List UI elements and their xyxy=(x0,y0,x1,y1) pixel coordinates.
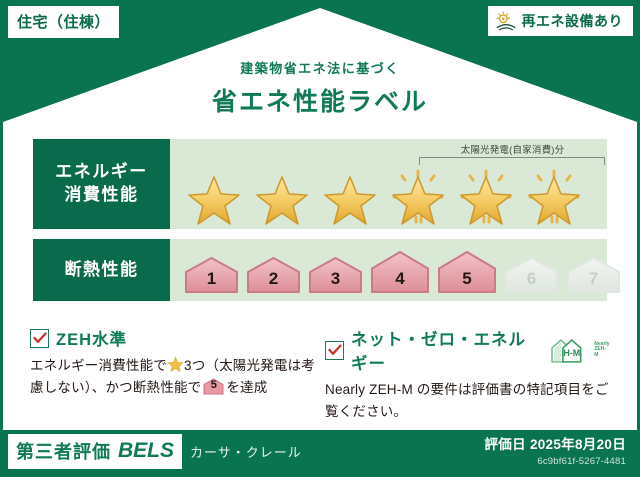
zeh-body-post: を達成 xyxy=(226,380,267,395)
energy-star-1 xyxy=(184,167,244,225)
energy-star-2 xyxy=(252,167,312,225)
energy-performance-row: エネルギー 消費性能 太陽光発電(自家消費)分 xyxy=(33,139,607,229)
star-solar-icon xyxy=(456,167,516,225)
insulation-badge-number: 2 xyxy=(246,269,301,289)
bels-jp-label: 第三者評価 xyxy=(16,438,111,464)
check-icon xyxy=(33,332,47,344)
net-zero-energy-statement: ネット・ゼロ・エネルギー H-M Nearly ZEH-M Nearly ZEH… xyxy=(325,326,610,423)
evaluation-date-label: 評価日 xyxy=(484,437,525,452)
bels-footer: 第三者評価 BELS カーサ・クレール xyxy=(8,434,302,469)
solar-range-bracket xyxy=(419,157,605,165)
evaluation-id: 6c9bf61f-5267-4481 xyxy=(484,456,626,467)
energy-label-line2: 消費性能 xyxy=(65,184,139,207)
renewable-badge-label: 再エネ設備あり xyxy=(522,11,624,31)
label-title-block: 建築物省エネ法に基づく 省エネ性能ラベル xyxy=(0,58,640,118)
insulation-grade-badges: 1234567 xyxy=(170,239,607,301)
renewable-energy-badge: 再エネ設備あり xyxy=(488,6,634,36)
solar-sun-icon xyxy=(495,10,517,32)
insulation-performance-row: 断熱性能 1234567 xyxy=(33,239,607,301)
check-icon xyxy=(328,344,342,356)
insulation-badge-5: 5 xyxy=(437,250,497,294)
insulation-badge-2: 2 xyxy=(246,256,301,294)
inline-star-icon xyxy=(167,356,184,373)
insulation-badge-3: 3 xyxy=(308,256,363,294)
energy-star-4 xyxy=(388,167,448,225)
insulation-label-full: 断熱性能 xyxy=(65,259,139,282)
zeh-m-logo-sub2: ZEH-M xyxy=(594,347,610,358)
zeh-statement-body: エネルギー消費性能で3つ（太陽光発電は考慮しない）、かつ断熱性能で5を達成 xyxy=(30,355,320,399)
star-filled-icon xyxy=(252,167,312,225)
net-zero-statement-body: Nearly ZEH-M の要件は評価書の特記項目をご覧ください。 xyxy=(325,379,610,423)
evaluation-info: 評価日 2025年8月20日 6c9bf61f-5267-4481 xyxy=(484,433,626,467)
star-filled-icon xyxy=(184,167,244,225)
insulation-badge-4: 4 xyxy=(370,250,430,294)
label-subtitle: 建築物省エネ法に基づく xyxy=(0,58,640,77)
zeh-checkbox xyxy=(30,329,49,348)
zeh-statement-header: ZEH水準 xyxy=(30,326,320,350)
insulation-performance-label: 断熱性能 xyxy=(33,239,170,301)
star-filled-icon xyxy=(320,167,380,225)
insulation-badge-number: 5 xyxy=(437,269,497,289)
insulation-badge-number: 1 xyxy=(184,269,239,289)
insulation-badge-6: 6 xyxy=(504,256,559,294)
zeh-statement-title: ZEH水準 xyxy=(56,326,127,350)
bels-badge: 第三者評価 BELS xyxy=(8,434,182,469)
label-main-title: 省エネ性能ラベル xyxy=(0,82,640,118)
net-zero-checkbox xyxy=(325,341,344,360)
star-solar-icon xyxy=(388,167,448,225)
star-solar-icon xyxy=(524,167,584,225)
building-name: カーサ・クレール xyxy=(190,442,302,461)
insulation-performance-body: 1234567 xyxy=(170,239,607,301)
insulation-badge-number: 4 xyxy=(370,269,430,289)
zeh-standard-statement: ZEH水準 エネルギー消費性能で3つ（太陽光発電は考慮しない）、かつ断熱性能で5… xyxy=(30,326,320,399)
zeh-m-logo: H-M Nearly ZEH-M xyxy=(550,337,610,364)
solar-generation-caption: 太陽光発電(自家消費)分 xyxy=(405,142,620,156)
zeh-m-logo-text: H-M xyxy=(563,347,580,357)
energy-star-3 xyxy=(320,167,380,225)
energy-performance-label: エネルギー 消費性能 xyxy=(33,139,170,229)
insulation-badge-1: 1 xyxy=(184,256,239,294)
insulation-badge-number: 3 xyxy=(308,269,363,289)
zeh-m-house-icon: H-M xyxy=(550,337,594,364)
net-zero-statement-header: ネット・ゼロ・エネルギー H-M Nearly ZEH-M xyxy=(325,326,610,374)
bels-en-label: BELS xyxy=(118,439,174,463)
evaluation-date-value: 2025年8月20日 xyxy=(530,437,626,452)
inline-grade-badge: 5 xyxy=(203,378,224,395)
insulation-badge-number: 6 xyxy=(504,269,559,289)
energy-label-line1: エネルギー xyxy=(55,161,148,184)
building-type-tag: 住宅（住棟） xyxy=(8,6,119,38)
insulation-badge-number: 7 xyxy=(566,269,621,289)
energy-star-5 xyxy=(456,167,516,225)
evaluation-date: 評価日 2025年8月20日 xyxy=(484,433,626,453)
net-zero-statement-title: ネット・ゼロ・エネルギー xyxy=(351,326,540,374)
zeh-body-pre: エネルギー消費性能で xyxy=(30,358,167,373)
energy-star-6 xyxy=(524,167,584,225)
inline-badge-number: 5 xyxy=(203,377,224,395)
energy-star-rating xyxy=(170,165,607,227)
insulation-badge-7: 7 xyxy=(566,256,621,294)
energy-performance-body: 太陽光発電(自家消費)分 xyxy=(170,139,607,229)
